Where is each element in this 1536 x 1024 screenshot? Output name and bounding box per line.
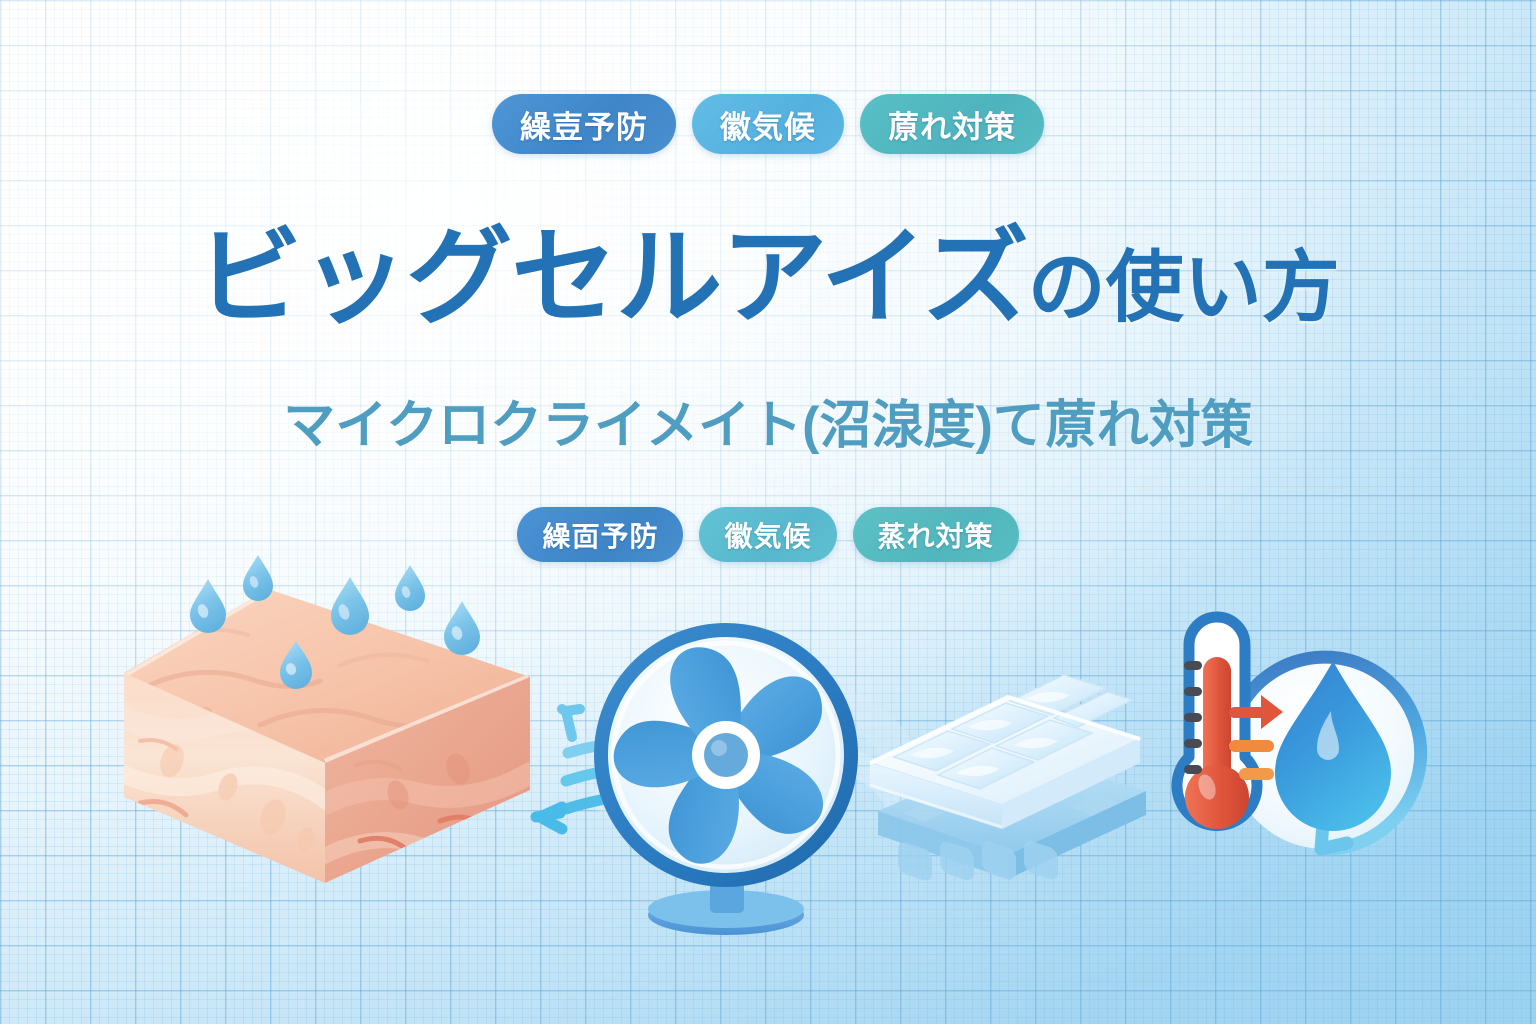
tag-pill-microclimate-bottom[interactable]: 徽気候 <box>699 507 836 562</box>
temperature-humidity-icon <box>1125 595 1465 905</box>
page-title: ビッグセルアイズの使い方 <box>0 222 1536 334</box>
tag-pill-stuffiness-measures-top[interactable]: 蒝れ対策 <box>860 94 1044 154</box>
tag-pill-heatstroke-prevention-top[interactable]: 繰壴予防 <box>492 94 676 154</box>
mercury-column <box>1203 657 1231 783</box>
skin-cross-section-icon <box>110 565 550 895</box>
tag-pill-heatstroke-prevention-bottom[interactable]: 繰靣予防 <box>517 507 683 562</box>
hero-banner-stage: 繰壴予防 徽気候 蒝れ対策 ビッグセルアイズの使い方 マイクロクライメイト(沼湶… <box>0 0 1536 1024</box>
page-subtitle: マイクロクライメイト(沼湶度)て蒝れ対策 <box>0 383 1536 458</box>
tag-pill-stuffiness-measures-bottom[interactable]: 蒸れ対策 <box>853 507 1019 562</box>
page-title-suffix: の使い方 <box>1028 243 1340 331</box>
tag-pill-row-bottom: 繰靣予防 徽気候 蒸れ対策 <box>0 507 1536 562</box>
tag-pill-row-top: 繰壴予防 徽気候 蒝れ対策 <box>0 94 1536 154</box>
ice-cube-tray-icon <box>840 615 1170 900</box>
tag-pill-microclimate-top[interactable]: 徽気候 <box>692 94 844 154</box>
thermometer <box>1177 617 1257 829</box>
fan-hub <box>704 733 748 777</box>
page-title-main: ビッグセルアイズ <box>196 219 1028 337</box>
